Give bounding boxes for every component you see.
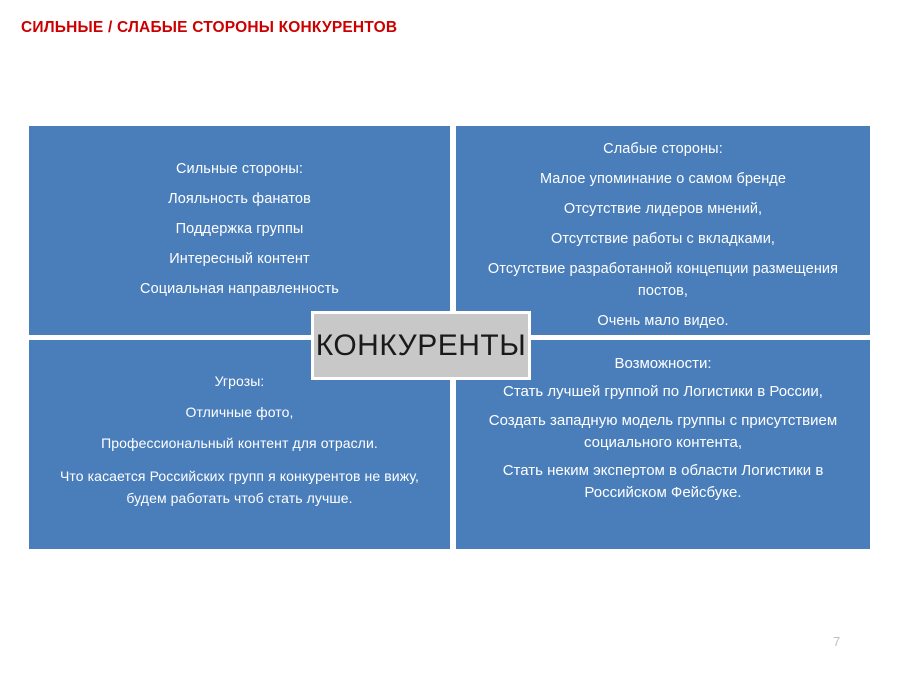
quadrant-strengths: Сильные стороны: Лояльность фанатов Подд… [29,126,450,335]
quadrant-strengths-item: Социальная направленность [37,274,442,304]
quadrant-strengths-item: Лояльность фанатов [37,184,442,214]
quadrant-weaknesses-heading: Слабые стороны: [462,134,864,164]
quadrant-strengths-heading: Сильные стороны: [37,154,442,184]
quadrant-opportunities-item: Стать лучшей группой по Логистики в Росс… [460,378,866,406]
quadrant-threats-item: Отличные фото, [35,397,444,428]
quadrant-weaknesses-item: Малое упоминание о самом бренде [462,164,864,194]
quadrant-strengths-item: Интересный контент [37,244,442,274]
slide-canvas: СИЛЬНЫЕ / СЛАБЫЕ СТОРОНЫ КОНКУРЕНТОВ Сил… [0,0,900,675]
page-title: СИЛЬНЫЕ / СЛАБЫЕ СТОРОНЫ КОНКУРЕНТОВ [21,19,397,37]
quadrant-weaknesses-item: Отсутствие лидеров мнений, [462,194,864,224]
quadrant-threats-item: Что касается Российских групп я конкурен… [35,459,444,509]
quadrant-weaknesses-item: Отсутствие работы с вкладками, [462,224,864,254]
quadrant-strengths-item: Поддержка группы [37,214,442,244]
center-label-box: КОНКУРЕНТЫ [311,311,531,380]
center-label-text: КОНКУРЕНТЫ [316,331,527,361]
quadrant-weaknesses: Слабые стороны: Малое упоминание о самом… [456,126,870,335]
quadrant-opportunities-item: Стать неким экспертом в области Логистик… [460,456,866,506]
page-number: 7 [833,634,840,649]
quadrant-threats-item: Профессиональный контент для отрасли. [35,428,444,459]
quadrant-opportunities-item: Создать западную модель группы с присутс… [460,406,866,456]
quadrant-weaknesses-item: Отсутствие разработанной концепции разме… [462,254,864,306]
